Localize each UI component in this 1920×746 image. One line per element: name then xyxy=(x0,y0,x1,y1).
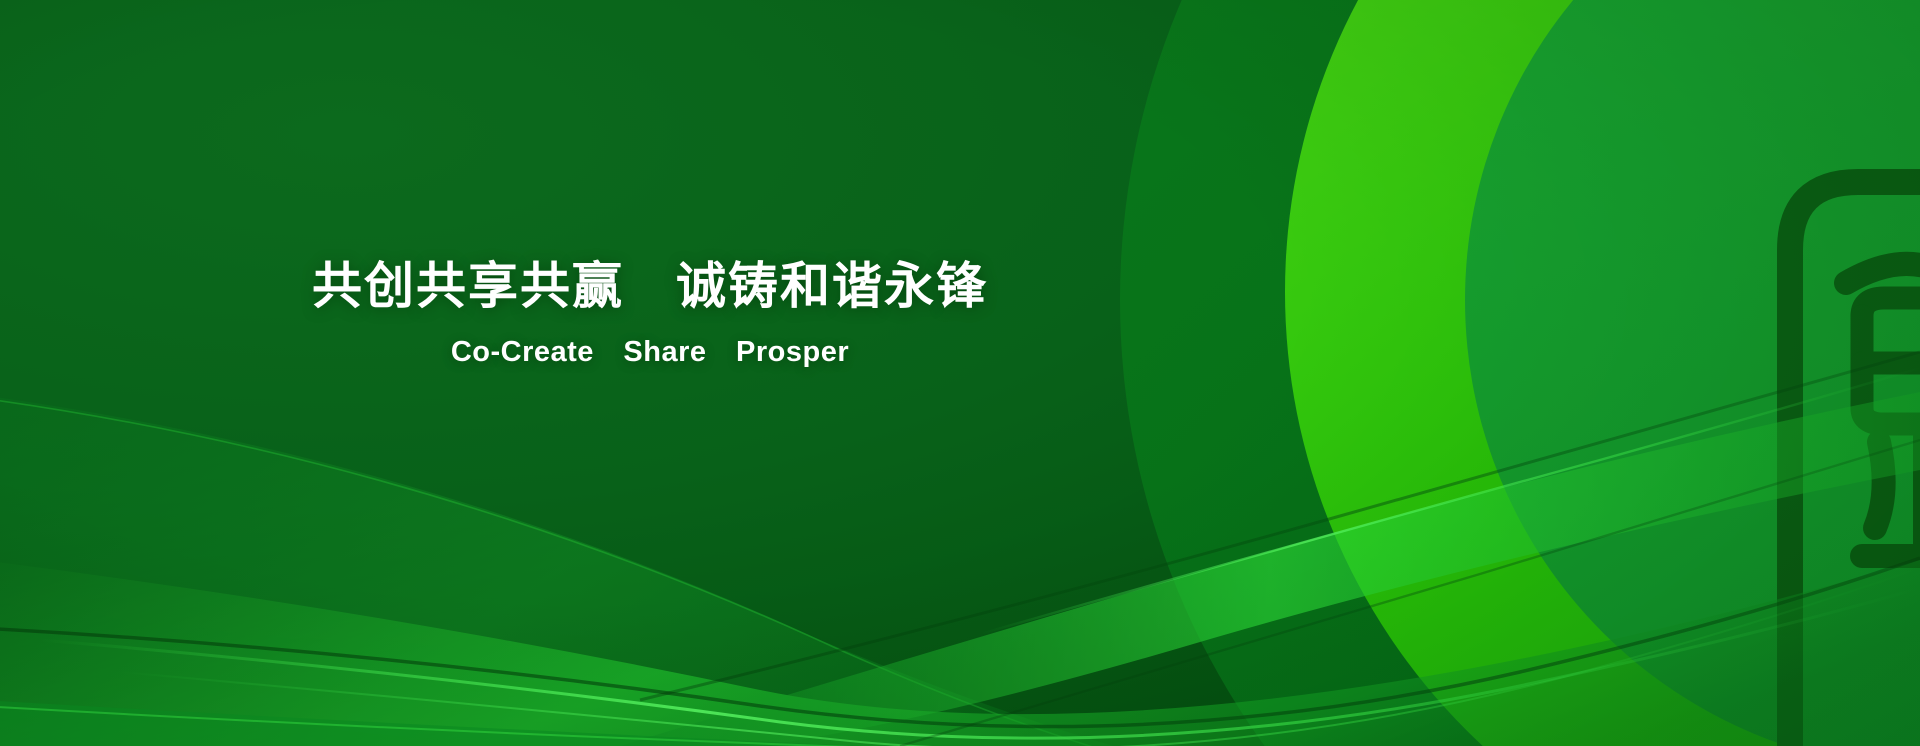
wave-ribbons-decor xyxy=(0,0,1920,746)
banner-text-block: 共创共享共赢 诚铸和谐永锋 Co-Create Share Prosper xyxy=(0,258,1300,370)
banner-subtitle: Co-Create Share Prosper xyxy=(0,328,1300,370)
banner-headline: 共创共享共赢 诚铸和谐永锋 xyxy=(0,258,1300,314)
hero-banner: 共创共享共赢 诚铸和谐永锋 Co-Create Share Prosper xyxy=(0,0,1920,746)
